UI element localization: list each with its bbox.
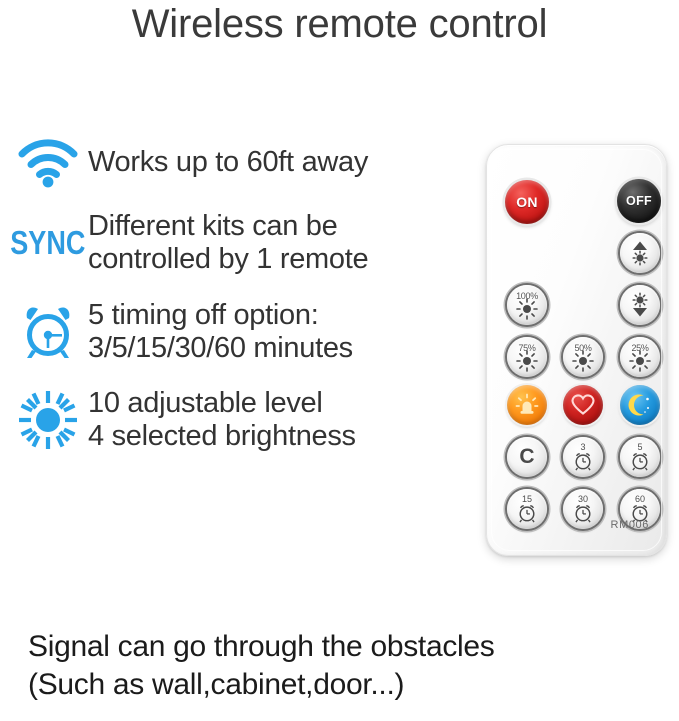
feature-text-range: Works up to 60ft away <box>88 146 368 179</box>
siren-icon <box>514 392 540 418</box>
remote-button-off[interactable]: OFF <box>617 179 661 223</box>
remote-button-brightness-down[interactable] <box>620 285 660 325</box>
remote-button-night[interactable] <box>620 385 660 425</box>
sync-icon: SYNC <box>8 224 88 262</box>
remote-button-brightness-25-label: 25% <box>620 343 660 353</box>
remote-button-brightness-100[interactable]: 100% <box>507 285 547 325</box>
remote-model-label: RM006 <box>611 519 649 531</box>
infographic-page: Wireless remote control Works up to 60ft… <box>0 0 679 721</box>
feature-row-timer: 5 timing off option: 3/5/15/30/60 minute… <box>8 296 478 368</box>
remote-button-timer-5[interactable]: 5 <box>620 437 660 477</box>
moon-icon <box>627 392 653 418</box>
remote-button-timer-3-label: 3 <box>563 442 603 452</box>
feature-text-sync: Different kits can be controlled by 1 re… <box>88 210 368 276</box>
remote-button-off-label: OFF <box>626 194 652 208</box>
feature-list: Works up to 60ft away SYNC Different kit… <box>8 132 478 470</box>
alarm-clock-icon <box>572 450 594 472</box>
heart-icon <box>570 392 596 418</box>
feature-row-range: Works up to 60ft away <box>8 132 478 194</box>
remote-button-brightness-up[interactable] <box>620 233 660 273</box>
remote-button-brightness-100-label: 100% <box>507 291 547 301</box>
remote-button-timer-30-label: 30 <box>563 494 603 504</box>
remote-button-cancel-label: C <box>519 445 534 469</box>
remote-button-on-label: ON <box>516 194 538 210</box>
remote-button-cancel[interactable]: C <box>507 437 547 477</box>
alarm-clock-icon <box>629 450 651 472</box>
remote-button-brightness-75-label: 75% <box>507 343 547 353</box>
remote-button-favorite[interactable] <box>563 385 603 425</box>
brightness-up-icon <box>626 239 654 267</box>
remote-button-timer-60-label: 60 <box>620 494 660 504</box>
feature-text-brightness: 10 adjustable level 4 selected brightnes… <box>88 387 356 453</box>
page-title: Wireless remote control <box>0 2 679 47</box>
remote-button-timer-3[interactable]: 3 <box>563 437 603 477</box>
remote-button-timer-5-label: 5 <box>620 442 660 452</box>
remote-button-timer-30[interactable]: 30 <box>563 489 603 529</box>
feature-row-sync: SYNC Different kits can be controlled by… <box>8 208 478 278</box>
brightness-down-icon <box>626 291 654 319</box>
wifi-icon <box>8 137 88 189</box>
remote-button-brightness-50[interactable]: 50% <box>563 337 603 377</box>
alarm-clock-icon <box>8 303 88 361</box>
feature-row-brightness: 10 adjustable level 4 selected brightnes… <box>8 384 478 456</box>
alarm-clock-icon <box>516 502 538 524</box>
remote-button-timer-15[interactable]: 15 <box>507 489 547 529</box>
remote-button-brightness-75[interactable]: 75% <box>507 337 547 377</box>
alarm-clock-icon <box>572 502 594 524</box>
remote-control-device: ON OFF 100% <box>486 144 667 556</box>
remote-button-brightness-50-label: 50% <box>563 343 603 353</box>
bottom-caption: Signal can go through the obstacles (Suc… <box>28 628 495 705</box>
sun-icon <box>8 389 88 451</box>
remote-button-brightness-25[interactable]: 25% <box>620 337 660 377</box>
remote-button-timer-15-label: 15 <box>507 494 547 504</box>
feature-text-timer: 5 timing off option: 3/5/15/30/60 minute… <box>88 299 353 365</box>
sync-icon-label: SYNC <box>10 224 85 262</box>
remote-button-on[interactable]: ON <box>505 180 549 224</box>
remote-button-flash[interactable] <box>507 385 547 425</box>
